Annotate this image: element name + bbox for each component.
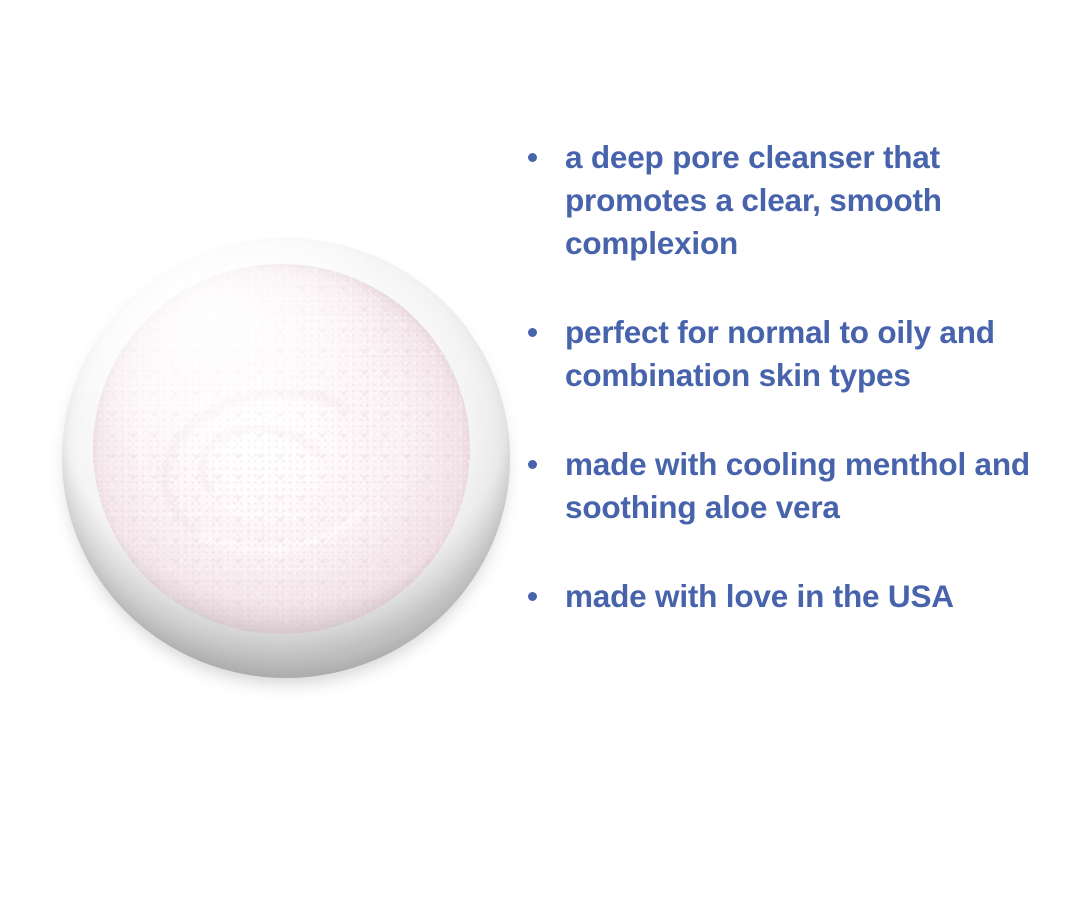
feature-text: perfect for normal to oily and combinati… xyxy=(565,311,1065,397)
feature-bullet-list: a deep pore cleanser that promotes a cle… xyxy=(528,136,1069,618)
powder-vignette xyxy=(93,264,469,634)
bullet-dot-icon xyxy=(528,592,537,601)
feature-text: made with cooling menthol and soothing a… xyxy=(565,443,1065,529)
feature-text: a deep pore cleanser that promotes a cle… xyxy=(565,136,1065,265)
list-item: perfect for normal to oily and combinati… xyxy=(528,311,1069,397)
powder-well xyxy=(93,264,469,634)
bullet-dot-icon xyxy=(528,153,537,162)
list-item: a deep pore cleanser that promotes a cle… xyxy=(528,136,1069,265)
product-image-powder-dish xyxy=(62,238,510,678)
bullet-dot-icon xyxy=(528,460,537,469)
feature-text: made with love in the USA xyxy=(565,575,954,618)
list-item: made with love in the USA xyxy=(528,575,1069,618)
list-item: made with cooling menthol and soothing a… xyxy=(528,443,1069,529)
product-feature-canvas: a deep pore cleanser that promotes a cle… xyxy=(0,0,1069,913)
bullet-dot-icon xyxy=(528,328,537,337)
